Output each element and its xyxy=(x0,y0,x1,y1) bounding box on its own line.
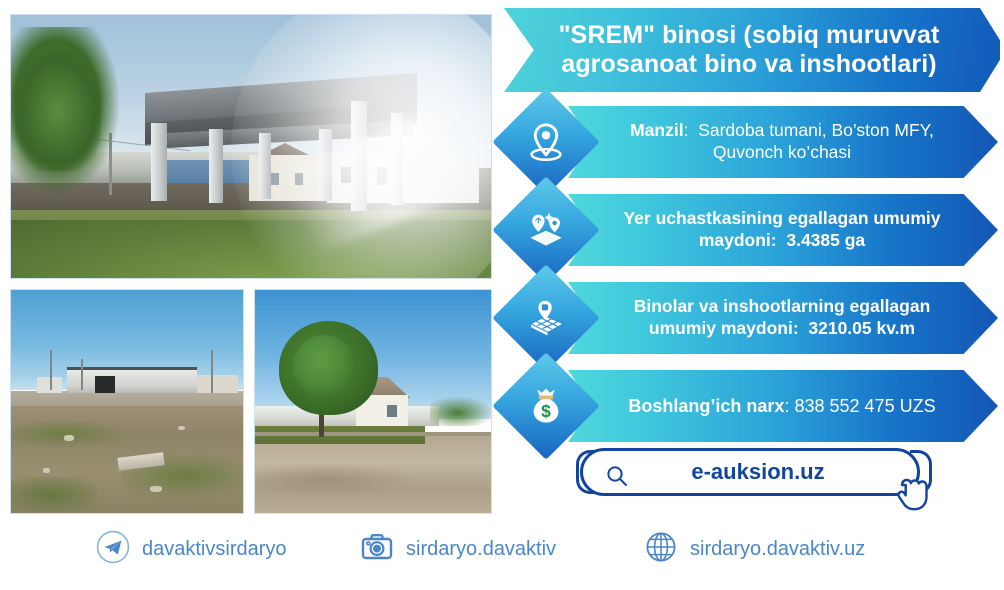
info-panel: "SREM" binosi (sobiq muruvvat agrosanoat… xyxy=(498,0,1004,590)
title-banner: "SREM" binosi (sobiq muruvvat agrosanoat… xyxy=(504,8,1000,92)
info-separator: : xyxy=(684,120,689,140)
info-text: Manzil: Sardoba tumani, Bo’ston MFY, Quv… xyxy=(568,120,998,164)
info-row-building-area: Binolar va inshootlarning egallagan umum… xyxy=(506,276,998,360)
main-photo xyxy=(10,14,492,279)
search-bar[interactable]: e-auksion.uz xyxy=(580,448,928,504)
info-text: Yer uchastkasining egallagan umumiy mayd… xyxy=(568,208,998,252)
info-text: Boshlang’ich narx: 838 552 475 UZS xyxy=(584,395,981,418)
footer-item-telegram[interactable]: davaktivsirdaryo xyxy=(96,530,287,569)
banner-right-notch xyxy=(980,8,1004,92)
poster-root: "SREM" binosi (sobiq muruvvat agrosanoat… xyxy=(0,0,1004,590)
info-label: Manzil xyxy=(630,120,683,140)
footer-label: sirdaryo.davaktiv.uz xyxy=(690,538,865,561)
location-pin-icon xyxy=(508,104,584,180)
info-separator: : xyxy=(771,230,777,250)
hand-pointer-icon xyxy=(884,459,946,526)
info-separator: : xyxy=(793,318,799,338)
camera-icon xyxy=(360,530,394,569)
money-bag-icon: $ xyxy=(508,368,584,444)
globe-icon xyxy=(644,530,678,569)
info-value: Sardoba tumani, Bo’ston MFY, Quvonch ko’… xyxy=(698,120,934,162)
telegram-icon xyxy=(96,530,130,569)
field-photo xyxy=(10,289,244,514)
info-bar: Binolar va inshootlarning egallagan umum… xyxy=(568,282,998,354)
yard-photo xyxy=(254,289,492,514)
info-label: Boshlang’ich narx xyxy=(628,396,784,416)
info-text: Binolar va inshootlarning egallagan umum… xyxy=(568,296,998,340)
svg-text:$: $ xyxy=(541,401,551,421)
footer-item-instagram[interactable]: sirdaryo.davaktiv xyxy=(360,530,556,569)
land-plot-icon xyxy=(508,192,584,268)
info-bar: Boshlang’ich narx: 838 552 475 UZS xyxy=(568,370,998,442)
page-title: "SREM" binosi (sobiq muruvvat agrosanoat… xyxy=(504,21,1000,80)
info-label: Yer uchastkasining egallagan umumiy mayd… xyxy=(623,208,940,250)
search-text: e-auksion.uz xyxy=(583,459,917,485)
info-row-land-area: Yer uchastkasining egallagan umumiy mayd… xyxy=(506,188,998,272)
info-row-price: Boshlang’ich narx: 838 552 475 UZS $ xyxy=(506,364,998,448)
building-plot-icon xyxy=(508,280,584,356)
info-value: 838 552 475 UZS xyxy=(794,396,935,416)
info-bar: Yer uchastkasining egallagan umumiy mayd… xyxy=(568,194,998,266)
search-input[interactable]: e-auksion.uz xyxy=(580,448,920,496)
magnifier-icon xyxy=(605,464,629,493)
photo-collage xyxy=(10,14,492,514)
info-bar: Manzil: Sardoba tumani, Bo’ston MFY, Quv… xyxy=(568,106,998,178)
info-value: 3210.05 kv.m xyxy=(808,318,915,338)
info-separator: : xyxy=(784,396,789,416)
footer-label: sirdaryo.davaktiv xyxy=(406,538,556,561)
footer-item-website[interactable]: sirdaryo.davaktiv.uz xyxy=(644,530,865,569)
footer: davaktivsirdaryo sirdaryo.davaktiv xyxy=(0,524,1004,580)
info-row-address: Manzil: Sardoba tumani, Bo’ston MFY, Quv… xyxy=(506,100,998,184)
footer-label: davaktivsirdaryo xyxy=(142,538,287,561)
info-value: 3.4385 ga xyxy=(786,230,865,250)
